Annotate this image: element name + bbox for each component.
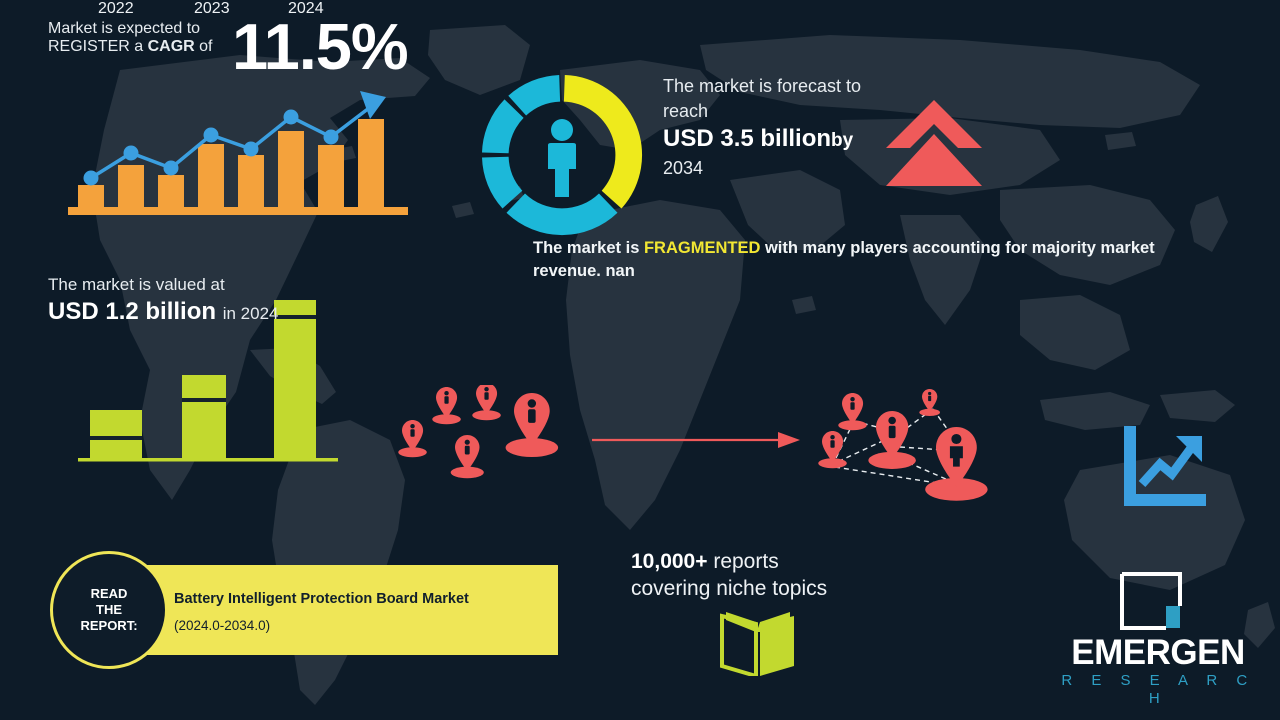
map-pin-icon <box>398 420 427 457</box>
logo-subtitle: R E S E A R C H <box>1058 672 1258 708</box>
reports-line-1: 10,000+ reports <box>631 548 827 575</box>
read-line-1: READ <box>91 586 128 602</box>
cagr-line2-post: of <box>195 38 213 55</box>
open-book-icon <box>718 610 798 676</box>
map-pin-icon <box>868 411 916 469</box>
fragmented-highlight: FRAGMENTED <box>644 239 760 257</box>
market-growth-bar-chart <box>68 85 408 220</box>
map-pin-icon <box>818 431 847 468</box>
valued-suffix: in 2024 <box>223 304 279 323</box>
map-pin-icon <box>472 385 501 420</box>
reports-count-text-block: 10,000+ reports covering niche topics <box>631 548 827 602</box>
logo-mark-icon <box>1120 572 1182 630</box>
double-chevron-up-icon <box>884 98 984 188</box>
read-the-report-button[interactable]: READ THE REPORT: <box>50 551 168 669</box>
valued-value: USD 1.2 billion <box>48 298 216 325</box>
reports-count: 10,000+ <box>631 550 708 573</box>
emergen-research-logo: EMERGEN R E S E A R C H <box>1058 572 1258 704</box>
cagr-line-2: REGISTER a CAGR of <box>48 38 212 56</box>
reports-line1-rest: reports <box>708 550 779 573</box>
forecast-year: 2034 <box>663 156 861 180</box>
scattered-location-pins <box>380 385 590 495</box>
map-pin-icon <box>919 389 940 416</box>
cagr-label: CAGR <box>148 38 195 55</box>
market-share-donut-chart <box>462 55 662 255</box>
green-chart-baseline <box>78 458 338 462</box>
report-period: (2024.0-2034.0) <box>174 618 270 633</box>
map-pin-icon <box>838 393 867 430</box>
fragmented-pre: The market is <box>533 239 644 257</box>
report-title: Battery Intelligent Protection Board Mar… <box>174 591 469 607</box>
forecast-line-1: The market is forecast to <box>663 74 861 99</box>
valued-value-line: USD 1.2 billion in 2024 <box>48 297 278 329</box>
forecast-value-line: USD 3.5 billionby <box>663 124 861 156</box>
chart-baseline <box>68 207 408 215</box>
cagr-value: 11.5% <box>232 14 408 79</box>
map-pin-icon <box>432 387 461 424</box>
green-chart-label-2023: 2023 <box>194 0 230 18</box>
cagr-line2-pre: REGISTER a <box>48 38 148 55</box>
read-line-2: THE <box>96 602 122 618</box>
cagr-text-block: Market is expected to REGISTER a CAGR of <box>48 20 212 56</box>
map-pin-icon <box>451 435 484 478</box>
infographic-canvas: Market is expected to REGISTER a CAGR of… <box>0 0 1280 720</box>
forecast-by: by <box>831 130 853 151</box>
green-chart-label-2022: 2022 <box>98 0 134 18</box>
valued-line-1: The market is valued at <box>48 273 278 297</box>
reports-line-2: covering niche topics <box>631 575 827 602</box>
growth-chart-icon <box>1118 422 1210 510</box>
forecast-text-block: The market is forecast to reach USD 3.5 … <box>663 74 861 180</box>
market-value-text-block: The market is valued at USD 1.2 billion … <box>48 273 278 329</box>
trend-arrow-icon <box>360 91 386 119</box>
forecast-line-2: reach <box>663 99 861 124</box>
transition-arrow-icon <box>592 428 802 452</box>
person-icon <box>548 119 576 197</box>
map-pin-icon <box>506 393 558 457</box>
cagr-line-1: Market is expected to <box>48 20 212 38</box>
fragmentation-statement: The market is FRAGMENTED with many playe… <box>533 237 1223 283</box>
read-the-report-banner[interactable]: Battery Intelligent Protection Board Mar… <box>104 565 558 655</box>
forecast-value: USD 3.5 billion <box>663 125 831 152</box>
connected-location-pins <box>800 385 1020 505</box>
map-pin-icon <box>925 427 987 501</box>
read-line-3: REPORT: <box>80 618 137 634</box>
logo-wordmark: EMERGEN <box>1058 634 1258 672</box>
